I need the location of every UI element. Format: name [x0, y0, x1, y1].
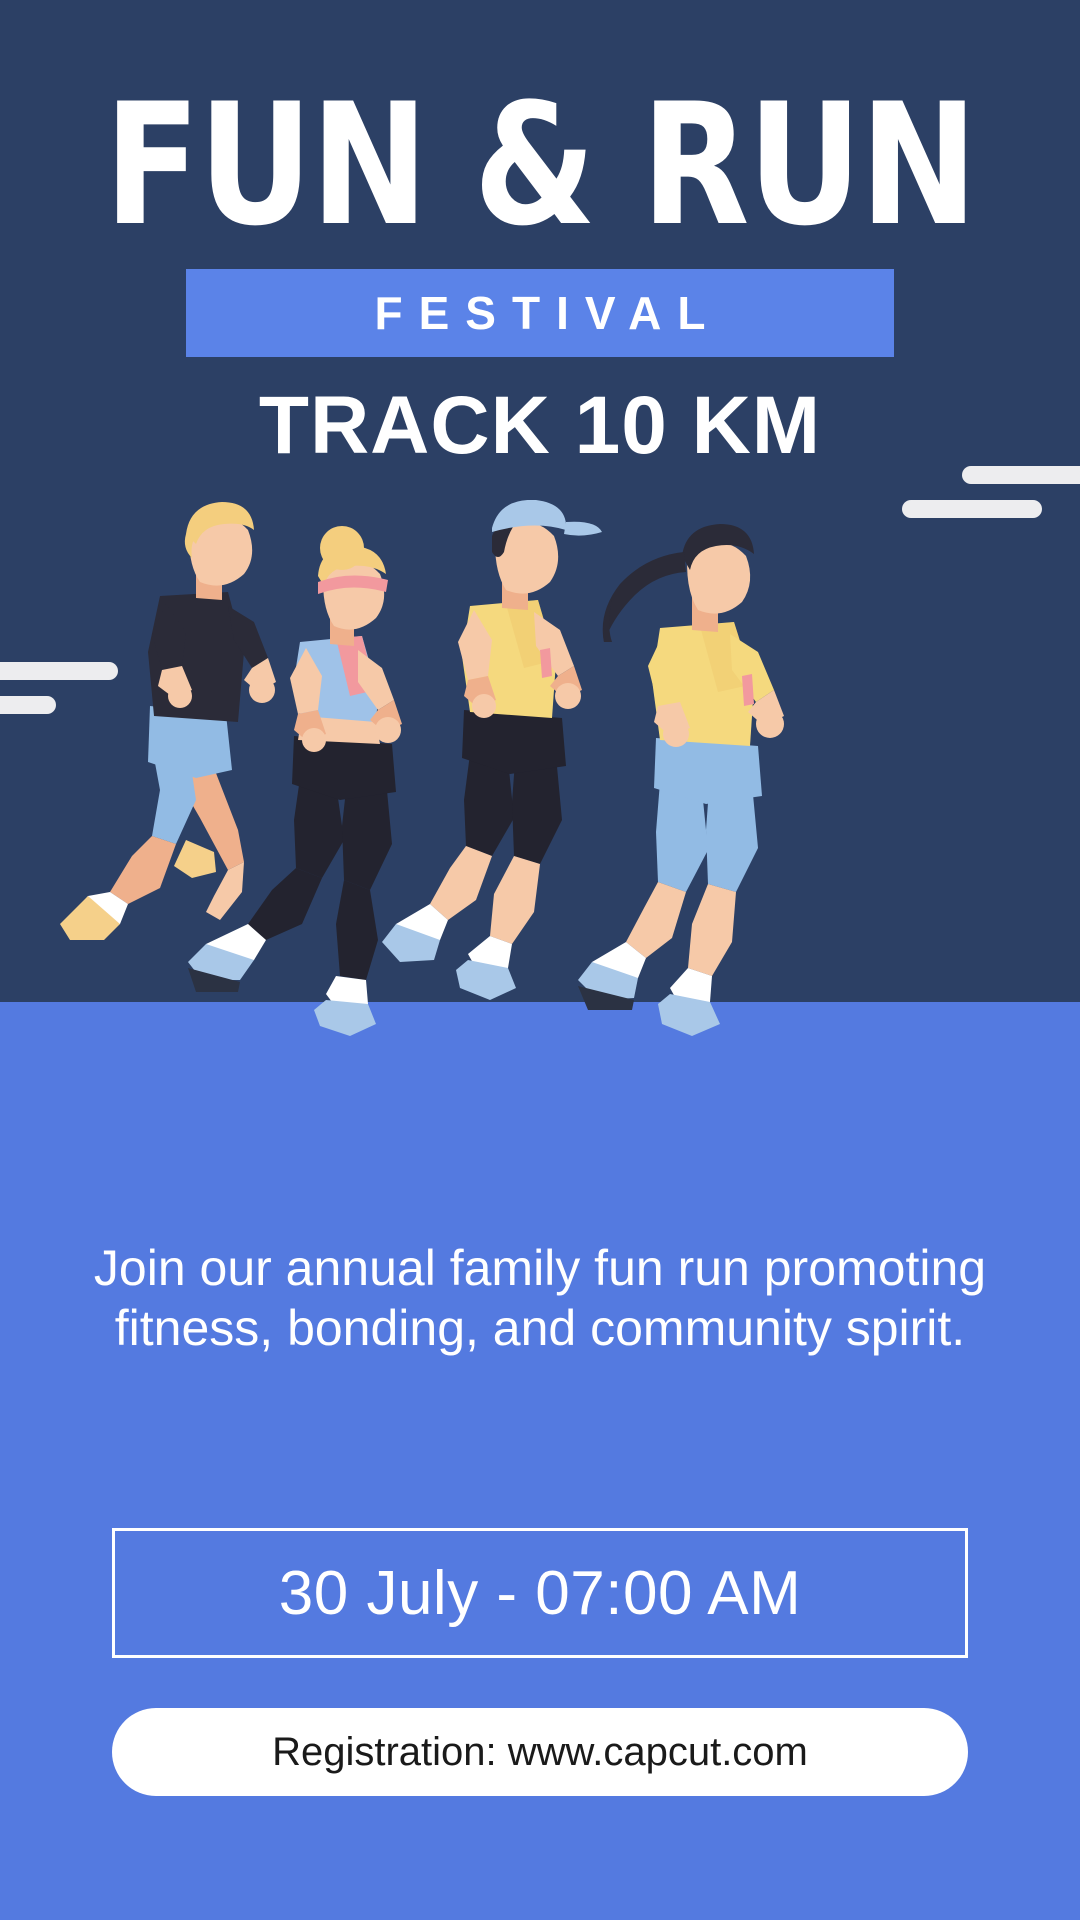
poster-canvas: FUN & RUN FESTIVAL TRACK 10 KM	[0, 0, 1080, 1920]
festival-label: FESTIVAL	[359, 286, 722, 340]
track-distance-label: TRACK 10 KM	[0, 379, 1080, 473]
runners-svg	[0, 500, 1080, 1060]
headline-block: FUN & RUN FESTIVAL TRACK 10 KM	[0, 0, 1080, 473]
festival-banner: FESTIVAL	[186, 269, 894, 357]
poster-title: FUN & RUN	[38, 88, 1042, 243]
runners-illustration	[0, 500, 1080, 1060]
registration-button[interactable]: Registration: www.capcut.com	[112, 1708, 968, 1796]
runner-ponytail-female-yellow-shirt	[578, 524, 784, 1036]
runner-blonde-male-black-shirt	[60, 502, 276, 940]
runner-cap-male-yellow-tank	[382, 500, 602, 1000]
registration-label: Registration: www.capcut.com	[272, 1730, 808, 1775]
date-time-box: 30 July - 07:00 AM	[112, 1528, 968, 1658]
event-description: Join our annual family fun run promoting…	[90, 1238, 990, 1358]
date-time-label: 30 July - 07:00 AM	[279, 1558, 802, 1629]
